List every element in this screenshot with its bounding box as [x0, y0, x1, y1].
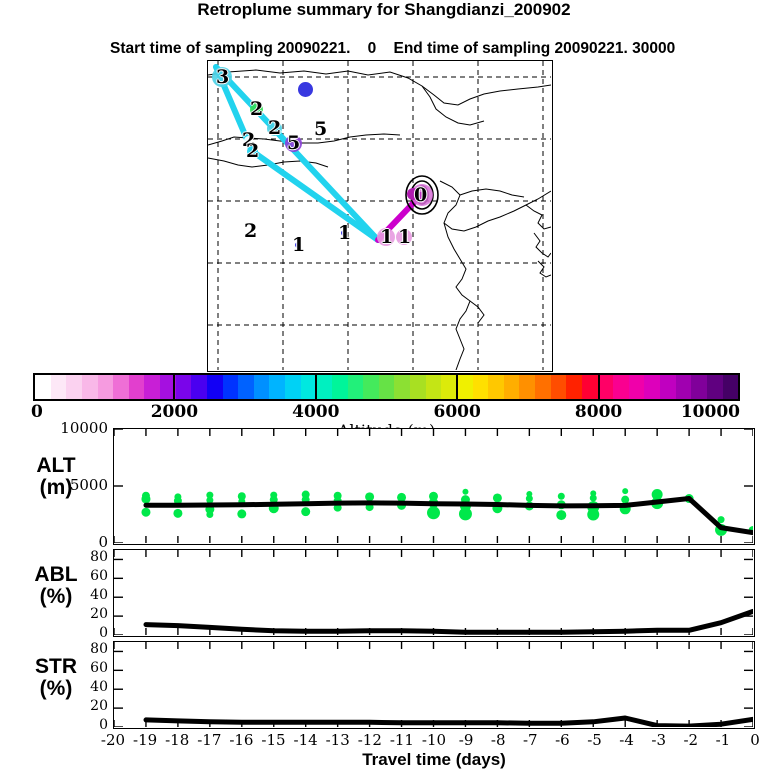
str-panel-line [146, 718, 753, 726]
map-blob [298, 82, 313, 97]
colorbar-band [35, 375, 51, 399]
colorbar-band [519, 375, 535, 399]
colorbar-tick: 6000 [434, 402, 481, 422]
colorbar-band [82, 375, 98, 399]
y-tick-label: 80 [30, 549, 108, 565]
colorbar-band [285, 375, 301, 399]
map-marker-label: 1 [380, 226, 393, 248]
colorbar-band [707, 375, 723, 399]
map-marker-label: 0 [414, 184, 427, 206]
colorbar-band [473, 375, 489, 399]
y-tick-label: 20 [30, 606, 108, 622]
altitude-canvas [114, 429, 753, 543]
colorbar-band [394, 375, 410, 399]
colorbar-band [113, 375, 129, 399]
colorbar-band [191, 375, 207, 399]
colorbar-band [129, 375, 145, 399]
altitude-plot [113, 428, 755, 545]
colorbar-band [629, 375, 645, 399]
colorbar-tick: 10000 [681, 402, 740, 422]
altitude-colorbar: 0200040006000800010000 Altitude (m) [33, 373, 740, 401]
map-marker-label: 1 [338, 222, 351, 244]
colorbar-band [176, 375, 192, 399]
map-marker-label: 3 [216, 66, 229, 88]
colorbar-band [66, 375, 82, 399]
start-time-label: Start time of sampling 20090221. [110, 40, 350, 57]
colorbar-band [488, 375, 504, 399]
y-tick-label: 60 [30, 568, 108, 584]
colorbar-band [238, 375, 254, 399]
colorbar-band [504, 375, 520, 399]
colorbar-band [254, 375, 270, 399]
str-canvas [114, 642, 753, 727]
colorbar-band [363, 375, 379, 399]
map-marker-label: 5 [287, 132, 300, 154]
colorbar-tick: 4000 [292, 402, 339, 422]
map-marker-label: 2 [244, 220, 257, 242]
colorbar-band [410, 375, 426, 399]
colorbar-band [535, 375, 551, 399]
cyan-trajectory-lower [252, 151, 378, 240]
colorbar-band [551, 375, 567, 399]
colorbar-band [613, 375, 629, 399]
colorbar-band [582, 375, 598, 399]
colorbar-separator [315, 373, 317, 401]
page-title: Retroplume summary for Shangdianzi_20090… [0, 0, 768, 20]
colorbar-band [269, 375, 285, 399]
colorbar-band [660, 375, 676, 399]
abl-panel-line [146, 611, 753, 632]
x-tick-label: 0 [735, 731, 768, 749]
colorbar-band [223, 375, 239, 399]
colorbar-band [426, 375, 442, 399]
y-tick-label: 60 [30, 660, 108, 676]
colorbar-band [644, 375, 660, 399]
map-marker-label: 5 [314, 118, 327, 140]
colorbar-band [98, 375, 114, 399]
colorbar-separator [456, 373, 458, 401]
colorbar-band [457, 375, 473, 399]
abl-canvas [114, 550, 753, 635]
colorbar-strip [33, 373, 740, 401]
colorbar-separator [173, 373, 175, 401]
end-time-label: End time of sampling 20090221. 30000 [393, 40, 675, 57]
map-marker-label: 1 [398, 226, 411, 248]
retroplume-map: 3225522211110 [207, 60, 553, 372]
colorbar-band [379, 375, 395, 399]
colorbar-band [332, 375, 348, 399]
str-plot [113, 641, 755, 729]
y-tick-label: 40 [30, 587, 108, 603]
altitude-mean-line [146, 499, 753, 533]
y-tick-label: 10000 [30, 419, 108, 437]
y-tick-label: 40 [30, 679, 108, 695]
colorbar-band [51, 375, 67, 399]
map-marker-label: 1 [292, 234, 305, 256]
colorbar-band [566, 375, 582, 399]
colorbar-band [441, 375, 457, 399]
colorbar-tick: 2000 [151, 402, 198, 422]
y-tick-label: 0 [30, 533, 108, 551]
y-tick-label: 80 [30, 641, 108, 657]
y-tick-label: 5000 [30, 476, 108, 494]
colorbar-tick: 8000 [575, 402, 622, 422]
colorbar-band [723, 375, 739, 399]
y-tick-label: 20 [30, 698, 108, 714]
colorbar-band [676, 375, 692, 399]
colorbar-band [598, 375, 614, 399]
y-tick-label: 0 [30, 625, 108, 641]
start-time-value: 0 [368, 40, 377, 57]
colorbar-separator [598, 373, 600, 401]
x-axis-title: Travel time (days) [113, 750, 755, 770]
abl-plot [113, 549, 755, 637]
colorbar-band [691, 375, 707, 399]
colorbar-band [348, 375, 364, 399]
colorbar-band [207, 375, 223, 399]
map-marker-label: 2 [268, 117, 281, 139]
colorbar-band [316, 375, 332, 399]
altitude-scatter [141, 488, 753, 536]
colorbar-band [144, 375, 160, 399]
map-marker-label: 2 [250, 98, 263, 120]
map-marker-label: 2 [246, 140, 259, 162]
